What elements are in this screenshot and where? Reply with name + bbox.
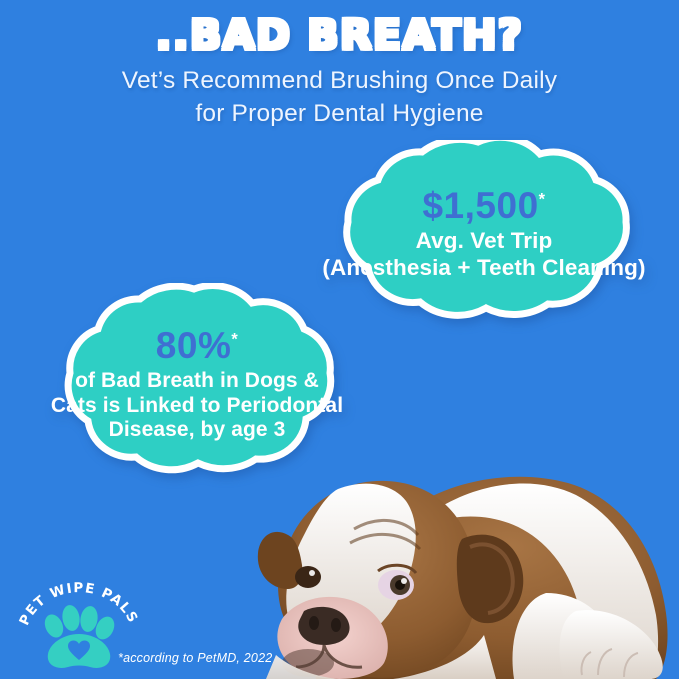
page-title: ..BAD BREATH? [0, 14, 679, 57]
bulldog-photo [246, 443, 679, 679]
page-subtitle-line-2: for Proper Dental Hygiene [0, 98, 679, 131]
footnote-source: *according to PetMD, 2022 [118, 651, 272, 665]
page-subtitle-line-1: Vet’s Recommend Brushing Once Daily [0, 65, 679, 98]
page-subtitle: Vet’s Recommend Brushing Once Daily for … [0, 65, 679, 130]
bulldog-illustration [246, 443, 679, 679]
infographic-poster: ..BAD BREATH? Vet’s Recommend Brushing O… [0, 0, 679, 679]
header-block: ..BAD BREATH? Vet’s Recommend Brushing O… [0, 14, 679, 130]
